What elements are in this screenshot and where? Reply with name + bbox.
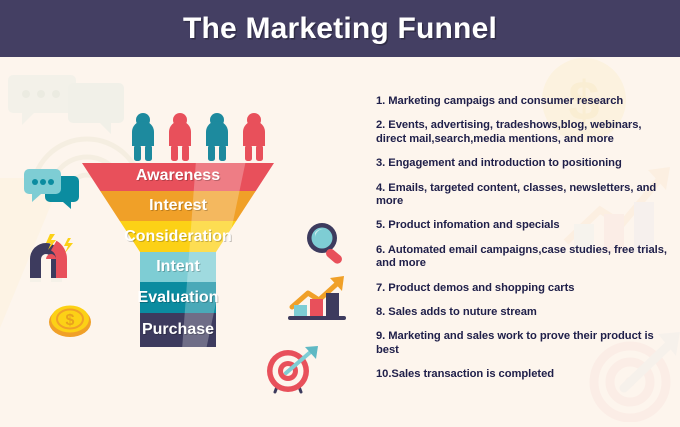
coin-dollar-icon: $ (48, 300, 92, 340)
magnet-icon (20, 234, 76, 282)
list-item: 7. Product demos and shopping carts (376, 282, 668, 295)
funnel-stage-label: Interest (149, 197, 207, 215)
target-dart-icon (264, 346, 320, 396)
list-item: 2. Events, advertising, tradeshows,blog,… (376, 119, 668, 146)
speech-bubble-icon (24, 168, 80, 210)
funnel-description-list: 1. Marketing campaigs and consumer resea… (376, 95, 668, 393)
person-icon (128, 112, 158, 162)
funnel-stage-label: Purchase (142, 321, 214, 339)
funnel-stage-label: Intent (156, 258, 200, 276)
list-item: 4. Emails, targeted content, classes, ne… (376, 182, 668, 209)
funnel-stage-label: Consideration (124, 228, 232, 246)
people-row (128, 112, 268, 162)
funnel-stage-intent[interactable]: Intent (78, 252, 278, 282)
watermark-speech-bubbles-icon (6, 74, 126, 152)
funnel-stage-awareness[interactable]: Awareness (78, 160, 278, 191)
list-item: 5. Product infomation and specials (376, 219, 668, 232)
funnel-stage-label: Evaluation (138, 289, 219, 307)
header-bar: The Marketing Funnel (0, 0, 680, 57)
funnel-stage-interest[interactable]: Interest (78, 191, 278, 221)
list-item: 9. Marketing and sales work to prove the… (376, 330, 668, 357)
person-icon (202, 112, 232, 162)
marketing-funnel: Awareness Interest Consideration Intent … (78, 160, 278, 350)
funnel-stage-purchase[interactable]: Purchase (78, 313, 278, 347)
magnifying-glass-icon (304, 222, 348, 264)
infographic-canvas: $ The Marketing Funnel (0, 0, 680, 420)
list-item: 6. Automated email campaigns,case studie… (376, 244, 668, 271)
person-icon (239, 112, 269, 162)
funnel-stage-evaluation[interactable]: Evaluation (78, 282, 278, 313)
funnel-stage-consideration[interactable]: Consideration (78, 221, 278, 252)
funnel-stage-label: Awareness (136, 167, 220, 185)
list-item: 8. Sales adds to nuture stream (376, 306, 668, 319)
person-icon (165, 112, 195, 162)
svg-text:$: $ (66, 312, 75, 329)
list-item: 10.Sales transaction is completed (376, 368, 668, 381)
list-item: 3. Engagement and introduction to positi… (376, 157, 668, 170)
bar-chart-growth-icon (288, 275, 350, 323)
list-item: 1. Marketing campaigs and consumer resea… (376, 95, 668, 108)
page-title: The Marketing Funnel (183, 12, 497, 46)
